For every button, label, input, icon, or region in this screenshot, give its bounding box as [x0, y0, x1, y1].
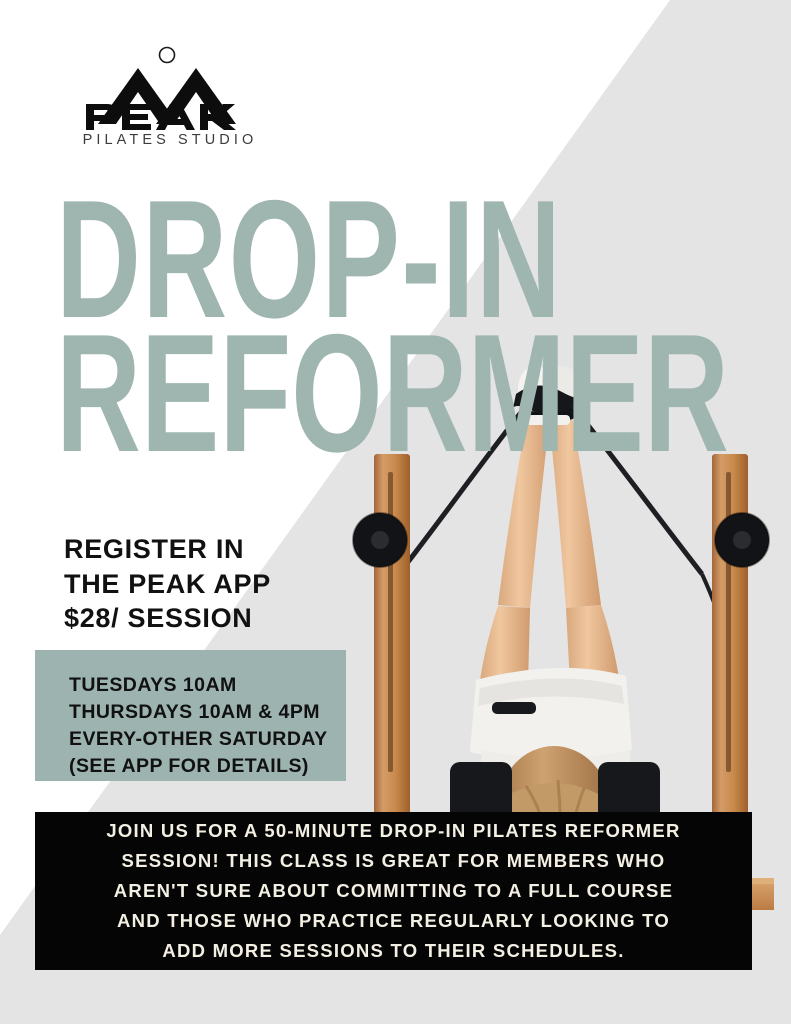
sun-circle-icon [160, 48, 175, 63]
footer-line-4: AND THOSE WHO PRACTICE REGULARLY LOOKING… [117, 906, 670, 936]
brand-logo: PILATES STUDIO [72, 46, 262, 158]
schedule-line-1: TUESDAYS 10AM [69, 672, 346, 699]
footer-line-2: SESSION! THIS CLASS IS GREAT FOR MEMBERS… [122, 846, 666, 876]
page-title: DROP-IN REFORMER [56, 192, 476, 461]
schedule-line-2: THURSDAYS 10AM & 4PM [69, 699, 346, 726]
register-price: $28/ SESSION [64, 601, 271, 636]
footer-line-1: JOIN US FOR A 50-MINUTE DROP-IN PILATES … [106, 816, 680, 846]
footer-line-5: ADD MORE SESSIONS TO THEIR SCHEDULES. [162, 936, 624, 966]
schedule-panel: TUESDAYS 10AM THURSDAYS 10AM & 4PM EVERY… [35, 650, 346, 781]
brand-tagline: PILATES STUDIO [78, 132, 262, 148]
footer-line-3: AREN'T SURE ABOUT COMMITTING TO A FULL C… [114, 876, 673, 906]
flyer-canvas: PILATES STUDIO DROP-IN REFORMER REGISTER… [0, 0, 791, 1024]
schedule-line-4: (SEE APP FOR DETAILS) [69, 753, 346, 780]
register-block: REGISTER IN THE PEAK APP $28/ SESSION [64, 532, 271, 636]
peak-logo-mark [72, 46, 262, 132]
headline-line-2: REFORMER [56, 326, 350, 460]
description-panel: JOIN US FOR A 50-MINUTE DROP-IN PILATES … [35, 812, 752, 970]
register-line-1: REGISTER IN [64, 532, 271, 567]
register-line-2: THE PEAK APP [64, 567, 271, 602]
schedule-line-3: EVERY-OTHER SATURDAY [69, 726, 346, 753]
